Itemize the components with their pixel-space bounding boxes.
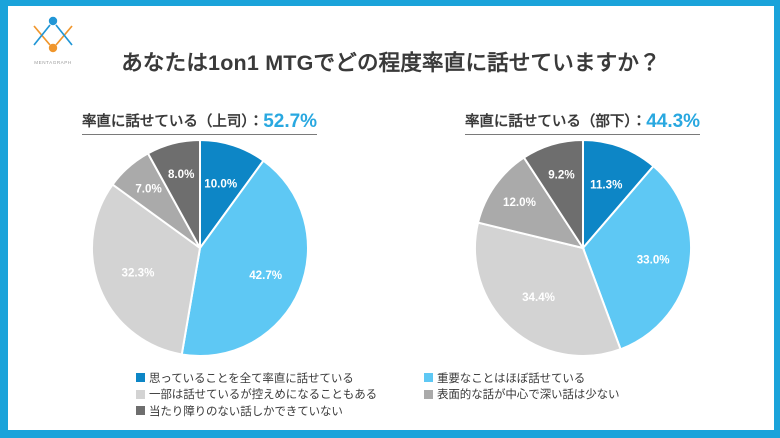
slide-frame: MENTAGRAPH あなたは1on1 MTGでどの程度率直に話せていますか？ …: [0, 0, 780, 438]
legend-label: 当たり障りのない話しかできていない: [149, 403, 343, 419]
chart-subtitle-subordinate-text: 率直に話せている（部下）: [465, 114, 632, 130]
pie-chart-boss: 10.0%42.7%32.3%7.0%8.0%: [85, 136, 315, 360]
pie-slice-label: 7.0%: [135, 183, 161, 196]
chart-subtitle-boss: 率直に話せている（上司）：52.7%: [8, 110, 391, 135]
pie-holder-subordinate: 11.3%33.0%34.4%12.0%9.2%: [391, 136, 774, 360]
chart-subtitle-boss-text: 率直に話せている（上司）: [82, 114, 249, 130]
page-title: あなたは1on1 MTGでどの程度率直に話せていますか？: [8, 46, 774, 77]
legend-label: 重要なことはほぼ話せている: [437, 370, 585, 386]
pie-holder-boss: 10.0%42.7%32.3%7.0%8.0%: [8, 136, 391, 360]
pie-slice-label: 8.0%: [167, 168, 193, 181]
pie-chart-subordinate: 11.3%33.0%34.4%12.0%9.2%: [468, 136, 698, 360]
legend-list-right: 重要なことはほぼ話せている表面的な話が中心で深い話は少ない: [424, 370, 619, 403]
chart-subtitle-subordinate: 率直に話せている（部下）：44.3%: [391, 110, 774, 135]
pie-slice-label: 10.0%: [204, 177, 237, 190]
legend-item[interactable]: 一部は話せているが控えめになることもある: [136, 387, 377, 403]
charts-row: 率直に話せている（上司）：52.7% 10.0%42.7%32.3%7.0%8.…: [8, 102, 774, 372]
pie-slice-label: 33.0%: [636, 254, 669, 267]
legend-item[interactable]: 思っていることを全て率直に話せている: [136, 370, 377, 386]
pie-slice-label: 11.3%: [590, 178, 622, 191]
legend-swatch-icon: [136, 406, 145, 415]
chart-headline-value-subordinate: 44.3%: [646, 111, 700, 132]
legend-column-right: 重要なことはほぼ話せている表面的な話が中心で深い話は少ない: [391, 370, 774, 430]
slide-card: MENTAGRAPH あなたは1on1 MTGでどの程度率直に話せていますか？ …: [8, 6, 774, 430]
legend-item[interactable]: 当たり障りのない話しかできていない: [136, 403, 377, 419]
legend-label: 思っていることを全て率直に話せている: [149, 370, 354, 386]
legend-item[interactable]: 表面的な話が中心で深い話は少ない: [424, 387, 619, 403]
legend-swatch-icon: [136, 390, 145, 399]
legend-list-left: 思っていることを全て率直に話せている一部は話せているが控えめになることもある当た…: [136, 370, 377, 420]
chart-headline-value-boss: 52.7%: [263, 111, 317, 132]
chart-subtitle-subordinate-separator: ：: [632, 114, 647, 130]
chart-subtitle-boss-separator: ：: [249, 114, 264, 130]
pie-slice-label: 12.0%: [503, 196, 536, 209]
chart-panel-subordinate: 率直に話せている（部下）：44.3% 11.3%33.0%34.4%12.0%9…: [391, 102, 774, 372]
legend-swatch-icon: [424, 373, 433, 382]
chart-panel-boss: 率直に話せている（上司）：52.7% 10.0%42.7%32.3%7.0%8.…: [8, 102, 391, 372]
legend-swatch-icon: [424, 390, 433, 399]
legend-swatch-icon: [136, 373, 145, 382]
pie-slice-label: 9.2%: [548, 169, 574, 182]
legends-row: 思っていることを全て率直に話せている一部は話せているが控えめになることもある当た…: [8, 370, 774, 430]
legend-label: 表面的な話が中心で深い話は少ない: [437, 386, 619, 402]
legend-column-left: 思っていることを全て率直に話せている一部は話せているが控えめになることもある当た…: [8, 370, 391, 430]
pie-slice-label: 32.3%: [121, 266, 154, 279]
pie-slice-label: 42.7%: [249, 269, 282, 282]
legend-item[interactable]: 重要なことはほぼ話せている: [424, 370, 619, 386]
legend-label: 一部は話せているが控えめになることもある: [149, 386, 377, 402]
pie-slice-label: 34.4%: [522, 291, 555, 304]
